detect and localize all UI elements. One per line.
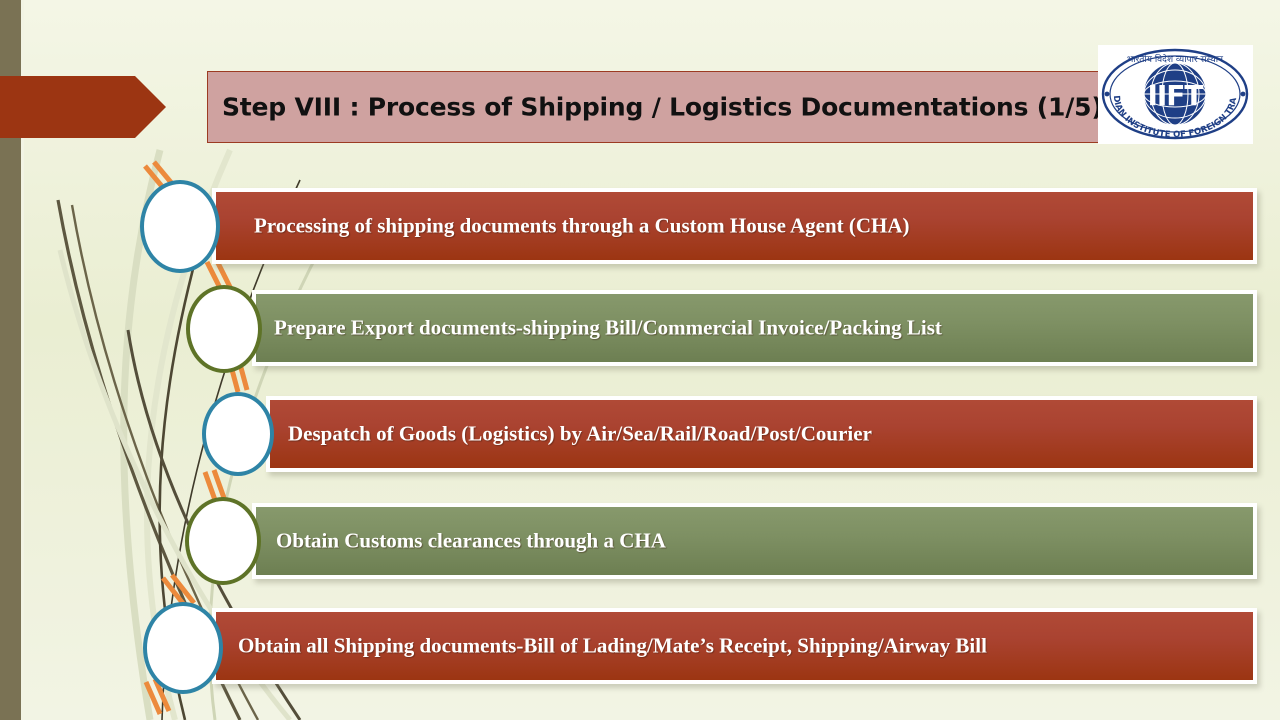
step-bar-5[interactable]: Obtain all Shipping documents-Bill of La…	[212, 608, 1257, 684]
step-label-2: Prepare Export documents-shipping Bill/C…	[274, 316, 942, 341]
step-bar-2[interactable]: Prepare Export documents-shipping Bill/C…	[252, 290, 1257, 366]
step-circle-5[interactable]	[143, 602, 223, 694]
step-circle-3[interactable]	[202, 392, 274, 476]
step-circle-1[interactable]	[140, 180, 220, 273]
iift-logo: IIFT भारतीय विदेश व्यापार संस्थान INDIAN…	[1098, 45, 1253, 144]
slide-title-box: Step VIII : Process of Shipping / Logist…	[207, 71, 1164, 143]
step-bar-3[interactable]: Despatch of Goods (Logistics) by Air/Sea…	[266, 396, 1257, 472]
step-circle-2[interactable]	[186, 285, 262, 373]
step-label-5: Obtain all Shipping documents-Bill of La…	[238, 634, 987, 659]
step-bar-1[interactable]: Processing of shipping documents through…	[212, 188, 1257, 264]
step-bar-4[interactable]: Obtain Customs clearances through a CHA	[252, 503, 1257, 579]
svg-text:भारतीय विदेश व्यापार संस्थान: भारतीय विदेश व्यापार संस्थान	[1127, 53, 1224, 65]
svg-text:IIFT: IIFT	[1147, 79, 1203, 112]
step-label-4: Obtain Customs clearances through a CHA	[276, 529, 666, 554]
step-label-1: Processing of shipping documents through…	[254, 214, 910, 239]
step-circle-4[interactable]	[185, 497, 261, 585]
slide-canvas: Step VIII : Process of Shipping / Logist…	[0, 0, 1280, 720]
step-label-3: Despatch of Goods (Logistics) by Air/Sea…	[288, 422, 872, 447]
red-chevron-arrow	[0, 76, 166, 138]
page-title: Step VIII : Process of Shipping / Logist…	[222, 93, 1103, 122]
